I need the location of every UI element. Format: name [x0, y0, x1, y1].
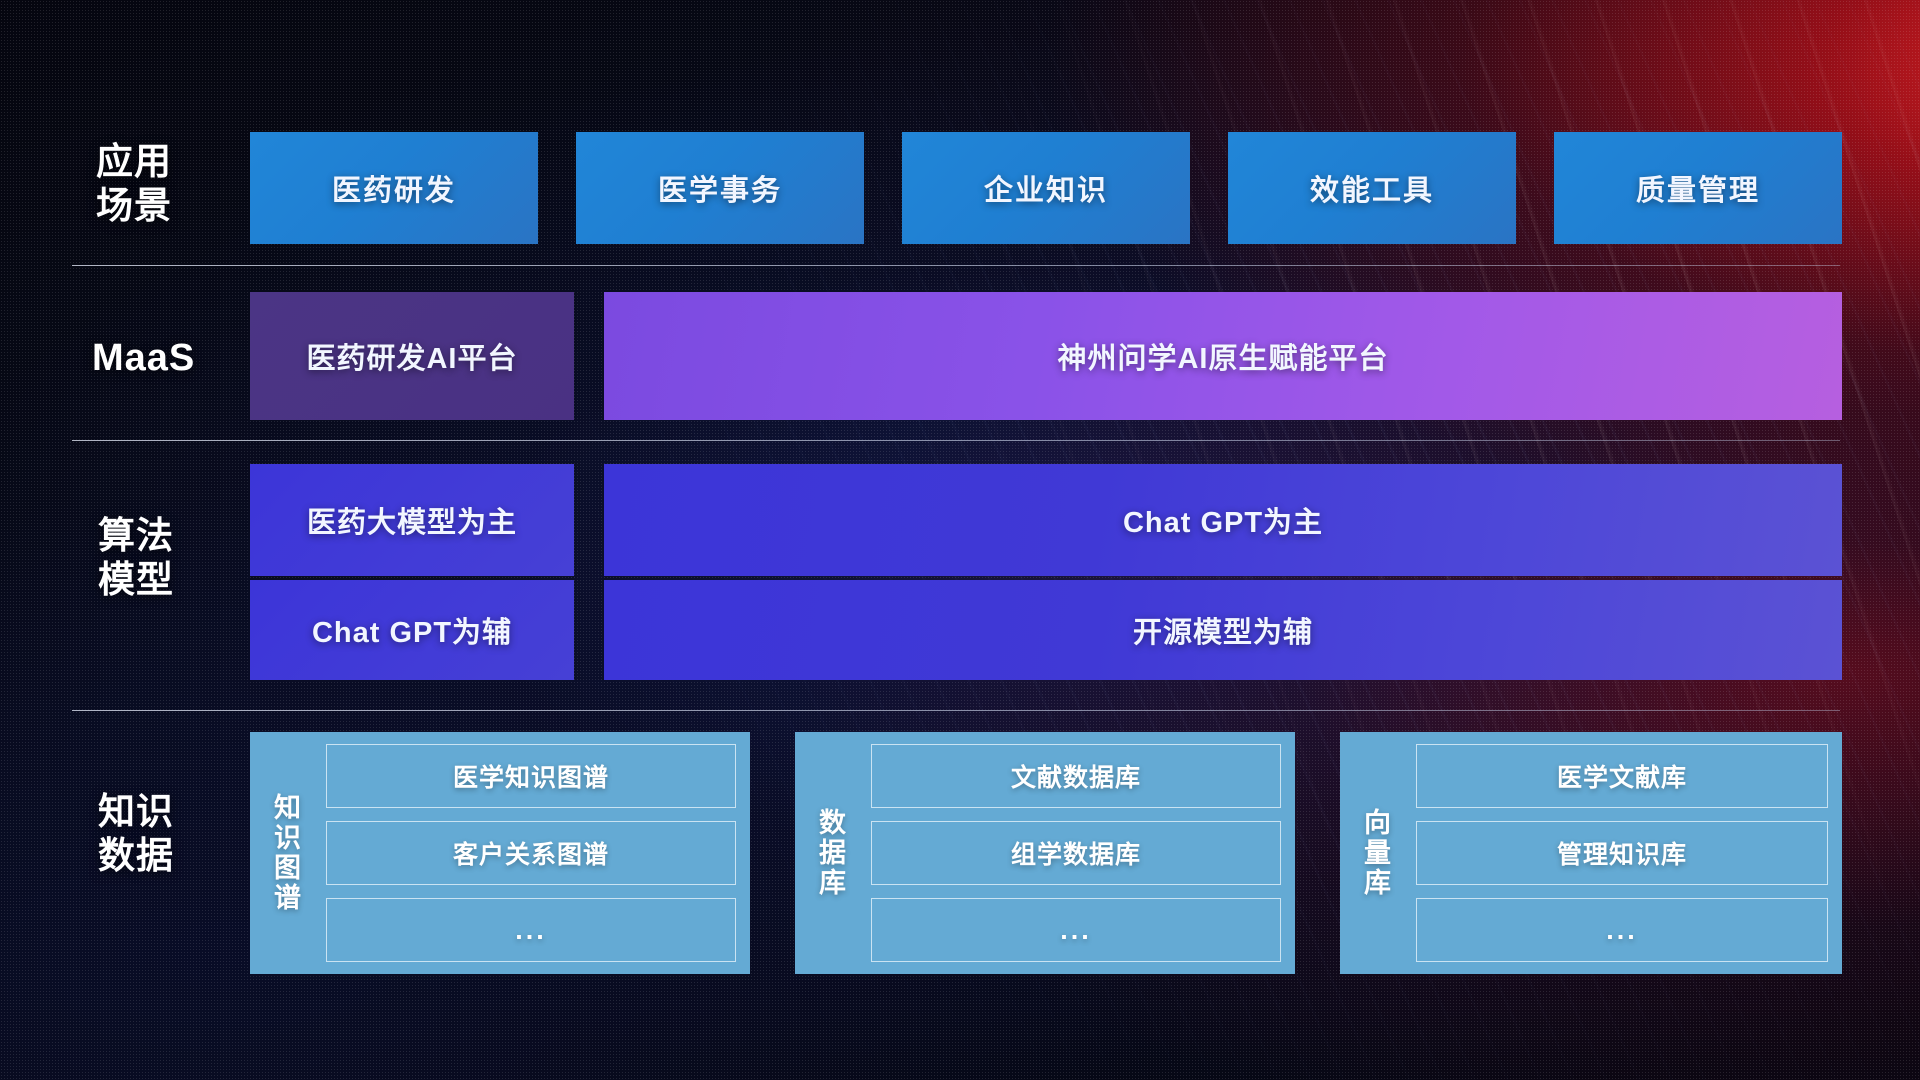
- row-label-algorithm: 算法 模型: [98, 514, 228, 601]
- algorithm-secondary-left-label: Chat GPT为辅: [312, 609, 512, 651]
- algorithm-primary-left-box[interactable]: 医药大模型为主: [250, 464, 574, 576]
- row-label-maas: MaaS: [92, 336, 252, 381]
- row-label-algorithm-line2: 模型: [98, 558, 228, 602]
- vertical-label-char-1: 识: [274, 823, 302, 853]
- algorithm-primary-right-label: Chat GPT为主: [1123, 499, 1323, 541]
- vertical-label-char-3: 谱: [274, 883, 302, 913]
- application-box-2-label: 企业知识: [984, 167, 1108, 209]
- knowledge-item-vector-1[interactable]: 管理知识库: [1416, 821, 1828, 885]
- application-box-2[interactable]: 企业知识: [902, 132, 1190, 244]
- maas-enablement-platform-label: 神州问学AI原生赋能平台: [1057, 335, 1388, 377]
- vertical-label-char-0: 知: [274, 793, 302, 823]
- knowledge-item-graph-1[interactable]: 客户关系图谱: [326, 821, 736, 885]
- maas-enablement-platform-box[interactable]: 神州问学AI原生赋能平台: [604, 292, 1842, 420]
- knowledge-group-vector-store-vertical-label: 向 量 库: [1350, 744, 1406, 962]
- application-box-1[interactable]: 医学事务: [576, 132, 864, 244]
- knowledge-item-database-0-label: 文献数据库: [1011, 758, 1141, 794]
- knowledge-item-vector-2[interactable]: ...: [1416, 898, 1828, 962]
- knowledge-group-knowledge-graph[interactable]: 知 识 图 谱 医学知识图谱 客户关系图谱 ...: [250, 732, 750, 974]
- knowledge-item-database-0[interactable]: 文献数据库: [871, 744, 1281, 808]
- divider-algorithm-knowledge: [72, 710, 1840, 711]
- row-label-knowledge-line1: 知识: [98, 790, 228, 834]
- knowledge-item-graph-2-label: ...: [515, 915, 547, 946]
- vertical-label-char-1: 量: [1364, 838, 1392, 868]
- knowledge-item-vector-1-label: 管理知识库: [1557, 835, 1687, 871]
- application-box-3[interactable]: 效能工具: [1228, 132, 1516, 244]
- application-box-4-label: 质量管理: [1636, 167, 1760, 209]
- knowledge-item-database-1-label: 组学数据库: [1011, 835, 1141, 871]
- row-label-application-line1: 应用: [96, 140, 226, 184]
- row-label-knowledge: 知识 数据: [98, 790, 228, 877]
- divider-maas-algorithm: [72, 440, 1840, 441]
- divider-application-maas: [72, 265, 1840, 266]
- maas-platform-label: 医药研发AI平台: [306, 335, 517, 377]
- algorithm-primary-right-box[interactable]: Chat GPT为主: [604, 464, 1842, 576]
- row-label-application-line2: 场景: [96, 184, 226, 228]
- vertical-label-char-1: 据: [819, 838, 847, 868]
- row-label-knowledge-line2: 数据: [98, 834, 228, 878]
- algorithm-primary-left-label: 医药大模型为主: [307, 499, 517, 541]
- knowledge-item-vector-0-label: 医学文献库: [1557, 758, 1687, 794]
- diagram-canvas: 应用 场景 MaaS 算法 模型 知识 数据 医药研发 医学事务 企业知识 效能: [0, 0, 1920, 1080]
- algorithm-secondary-left-box[interactable]: Chat GPT为辅: [250, 580, 574, 680]
- knowledge-item-graph-0[interactable]: 医学知识图谱: [326, 744, 736, 808]
- knowledge-item-vector-0[interactable]: 医学文献库: [1416, 744, 1828, 808]
- knowledge-group-knowledge-graph-vertical-label: 知 识 图 谱: [260, 744, 316, 962]
- application-box-4[interactable]: 质量管理: [1554, 132, 1842, 244]
- knowledge-item-graph-2[interactable]: ...: [326, 898, 736, 962]
- vertical-label-char-0: 数: [819, 808, 847, 838]
- row-label-application: 应用 场景: [96, 140, 226, 227]
- application-box-0-label: 医药研发: [332, 167, 456, 209]
- algorithm-secondary-right-box[interactable]: 开源模型为辅: [604, 580, 1842, 680]
- application-box-0[interactable]: 医药研发: [250, 132, 538, 244]
- knowledge-group-vector-store[interactable]: 向 量 库 医学文献库 管理知识库 ...: [1340, 732, 1842, 974]
- row-label-algorithm-line1: 算法: [98, 514, 228, 558]
- vertical-label-char-0: 向: [1364, 808, 1392, 838]
- application-box-3-label: 效能工具: [1310, 167, 1434, 209]
- row-label-maas-line1: MaaS: [92, 336, 252, 381]
- algorithm-secondary-right-label: 开源模型为辅: [1133, 609, 1313, 651]
- knowledge-item-graph-1-label: 客户关系图谱: [453, 835, 609, 871]
- knowledge-group-database[interactable]: 数 据 库 文献数据库 组学数据库 ...: [795, 732, 1295, 974]
- knowledge-item-database-2[interactable]: ...: [871, 898, 1281, 962]
- maas-platform-box[interactable]: 医药研发AI平台: [250, 292, 574, 420]
- vertical-label-char-2: 库: [1364, 868, 1392, 898]
- knowledge-item-database-1[interactable]: 组学数据库: [871, 821, 1281, 885]
- application-box-1-label: 医学事务: [658, 167, 782, 209]
- vertical-label-char-2: 库: [819, 868, 847, 898]
- vertical-label-char-2: 图: [274, 853, 302, 883]
- knowledge-item-graph-0-label: 医学知识图谱: [453, 758, 609, 794]
- knowledge-item-database-2-label: ...: [1060, 915, 1092, 946]
- knowledge-item-vector-2-label: ...: [1606, 915, 1638, 946]
- knowledge-group-database-vertical-label: 数 据 库: [805, 744, 861, 962]
